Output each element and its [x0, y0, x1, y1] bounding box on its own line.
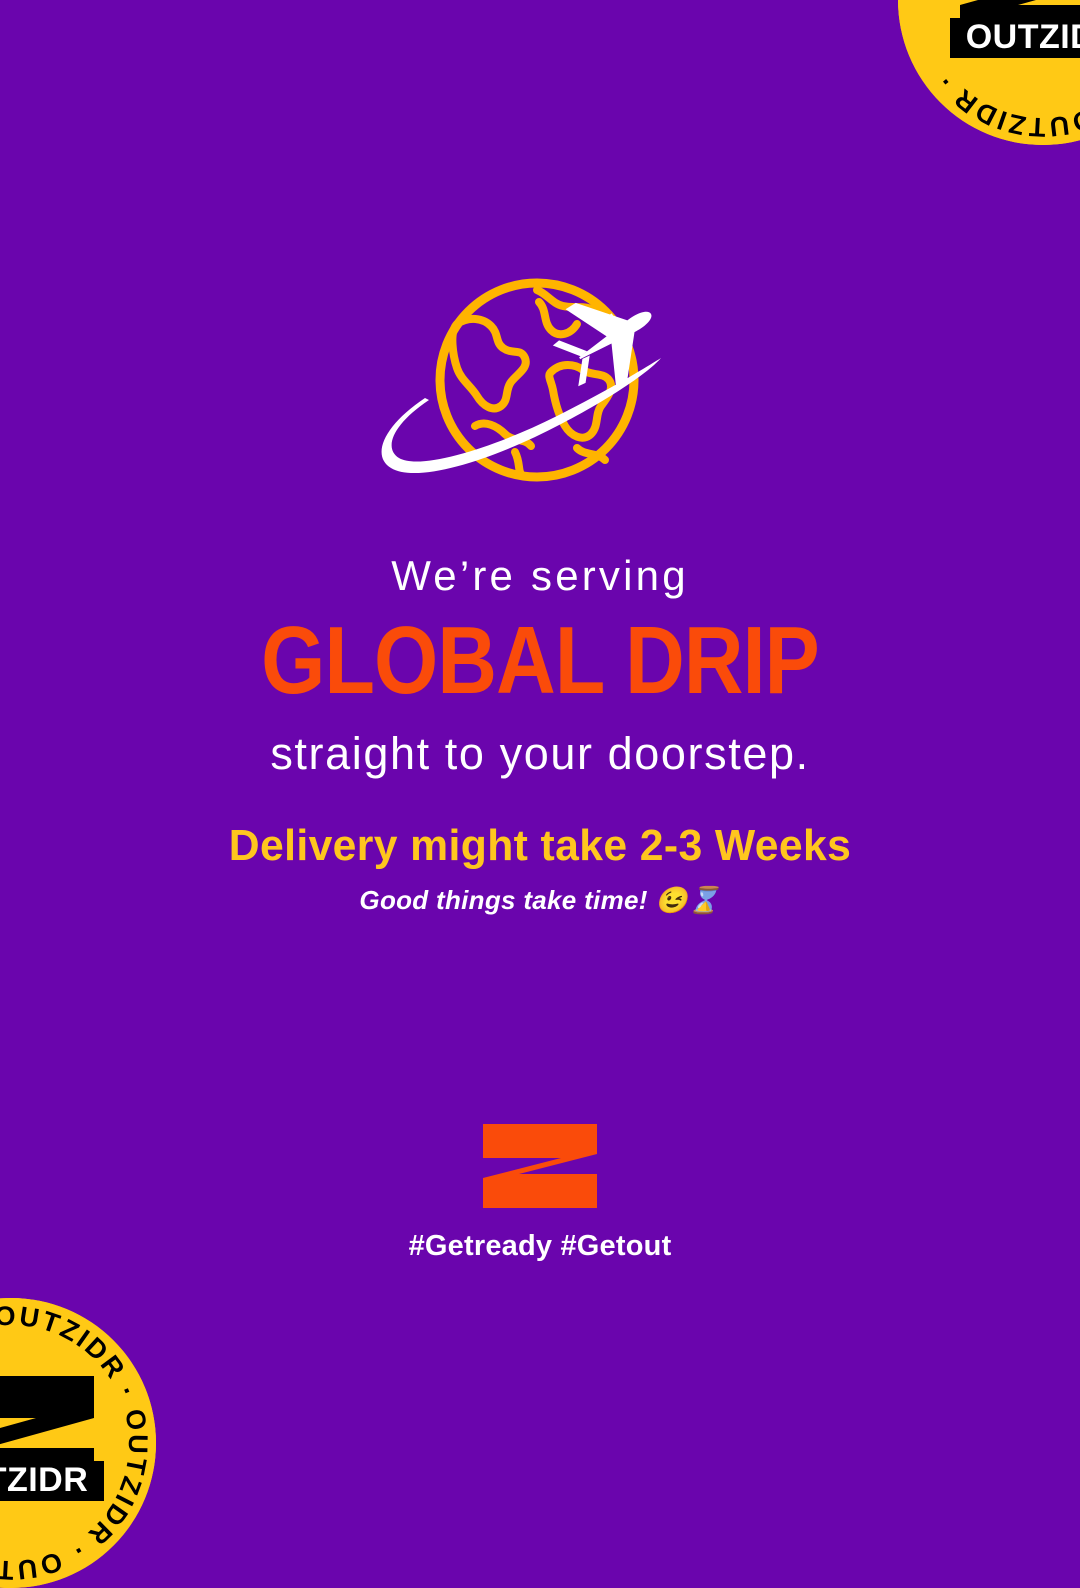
badge-graphic: OUTZIDR · OUTZIDR · OUTZIDR · OUTZIDR · … [898, 0, 1080, 145]
headline-eyebrow: We’re serving [0, 552, 1080, 599]
badge-wordmark-text: OUTZIDR [0, 1461, 88, 1499]
continent-bottom-detail [515, 452, 523, 476]
continent-left [452, 319, 525, 408]
footer-hashtags: #Getready #Getout [0, 1230, 1080, 1263]
delivery-note-block: Delivery might take 2-3 Weeks Good thing… [0, 822, 1080, 916]
badge-graphic: OUTZIDR · OUTZIDR · OUTZIDR · OUTZIDR · … [0, 1298, 156, 1588]
delivery-headline: Delivery might take 2-3 Weeks [16, 822, 1064, 870]
badge-wordmark-text: OUTZIDR [966, 18, 1080, 56]
brand-badge-top-right: OUTZIDR · OUTZIDR · OUTZIDR · OUTZIDR · … [898, 0, 1080, 145]
illustration-graphic [365, 276, 715, 508]
footer-block: #Getready #Getout [0, 1122, 1080, 1263]
globe-icon [440, 283, 634, 477]
headline-block: We’re serving GLOBAL DRIP straight to yo… [0, 552, 1080, 779]
brand-badge-bottom-left: OUTZIDR · OUTZIDR · OUTZIDR · OUTZIDR · … [0, 1298, 156, 1588]
delivery-subnote: Good things take time! 😉⌛ [0, 886, 1080, 916]
badge-inner-mark: OUTZIDR [950, 0, 1080, 58]
headline-subtitle: straight to your doorstep. [0, 729, 1080, 779]
brand-z-logo-icon [479, 1122, 601, 1210]
headline-title: GLOBAL DRIP [76, 613, 1005, 709]
z-logo-shape [483, 1124, 597, 1208]
globe-airplane-illustration [365, 276, 715, 508]
